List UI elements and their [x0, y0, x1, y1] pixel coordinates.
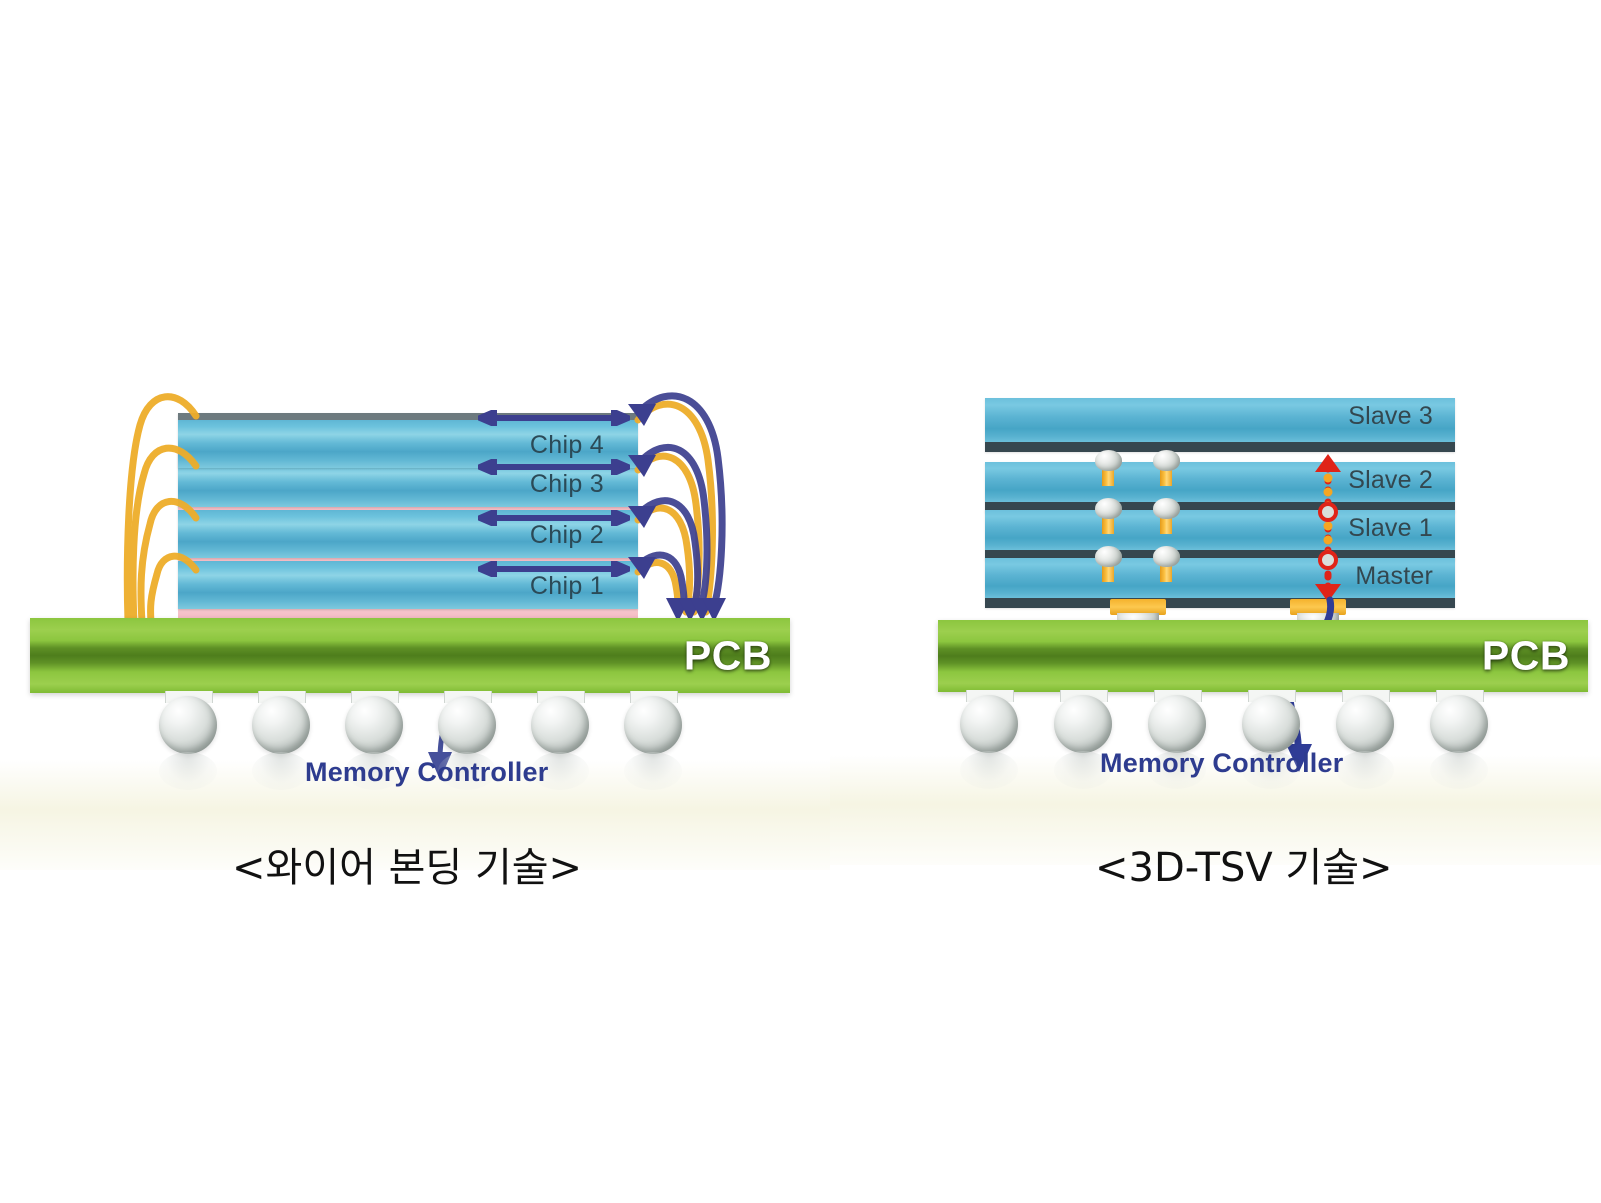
solder-ball: [1054, 695, 1112, 753]
micro-bump: [1095, 498, 1122, 519]
interconnect-arrow-4: [478, 410, 630, 426]
solder-ball: [624, 696, 682, 754]
solder-ball: [1148, 695, 1206, 753]
diagram-canvas: Chip 1 Chip 2 Chip 3 Chip 4: [0, 0, 1601, 1203]
caption-left: <와이어 본딩 기술>: [232, 835, 582, 893]
solder-ball: [438, 696, 496, 754]
solder-ball: [1430, 695, 1488, 753]
die-slave-3: Slave 3: [985, 398, 1455, 452]
solder-ball-reflection: [159, 752, 217, 790]
die-slave-2: Slave 2: [985, 462, 1455, 512]
die-label-slave-2: Slave 2: [1348, 466, 1433, 495]
interconnect-arrow-3: [478, 459, 630, 475]
memory-controller-label-right: Memory Controller: [1100, 748, 1343, 779]
chip-label-4: Chip 4: [530, 431, 604, 460]
solder-ball: [1242, 695, 1300, 753]
solder-ball: [159, 696, 217, 754]
memory-controller-label-left: Memory Controller: [305, 757, 548, 788]
die-slave-1: Slave 1: [985, 510, 1455, 560]
die-label-slave-3: Slave 3: [1348, 402, 1433, 431]
die-label-master: Master: [1355, 562, 1433, 591]
wire-bonding-panel: Chip 1 Chip 2 Chip 3 Chip 4: [0, 0, 830, 1203]
micro-bump: [1153, 498, 1180, 519]
caption-right: <3D-TSV 기술>: [1095, 835, 1393, 893]
interconnect-arrow-2: [478, 510, 630, 526]
interconnect-arrow-1: [478, 561, 630, 577]
pcb-label-right: PCB: [1482, 633, 1570, 680]
tsv-signal-path: [1305, 452, 1351, 604]
solder-ball-reflection: [1430, 751, 1488, 789]
micro-bump: [1095, 546, 1122, 567]
solder-ball-reflection: [624, 752, 682, 790]
solder-ball: [345, 696, 403, 754]
solder-ball-reflection: [1336, 751, 1394, 789]
pcb-board-left: PCB: [30, 618, 790, 693]
micro-bump: [1095, 450, 1122, 471]
tsv-panel: Slave 3 Slave 2 Slave 1 Master: [830, 0, 1601, 1203]
pcb-board-right: PCB: [938, 620, 1588, 692]
solder-ball-reflection: [960, 751, 1018, 789]
solder-ball: [960, 695, 1018, 753]
solder-ball: [531, 696, 589, 754]
die-master: Master: [985, 558, 1455, 608]
solder-ball-reflection: [252, 752, 310, 790]
solder-ball: [252, 696, 310, 754]
micro-bump: [1153, 546, 1180, 567]
die-label-slave-1: Slave 1: [1348, 514, 1433, 543]
solder-ball: [1336, 695, 1394, 753]
pcb-label-left: PCB: [684, 632, 772, 679]
micro-bump: [1153, 450, 1180, 471]
